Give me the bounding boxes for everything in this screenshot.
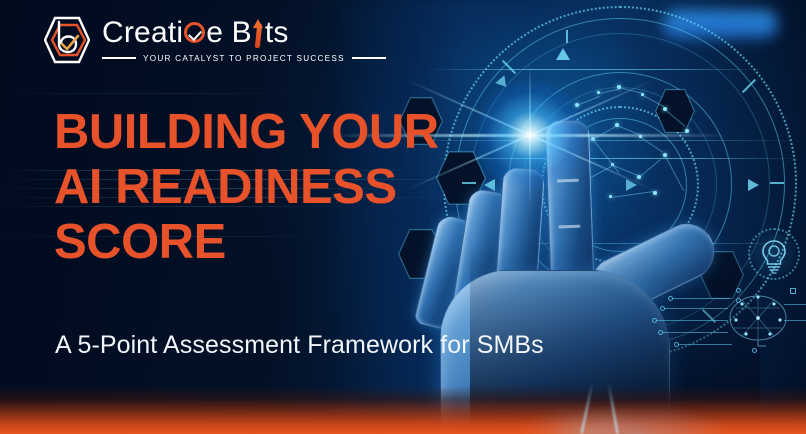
ai-readiness-banner: Creati e B ts YOUR CATALYST TO PROJECT S… [0, 0, 806, 434]
brand-logo[interactable]: Creati e B ts YOUR CATALYST TO PROJECT S… [44, 14, 386, 66]
brand-tagline: YOUR CATALYST TO PROJECT SUCCESS [102, 54, 386, 63]
tagline-rule-left [102, 57, 136, 59]
brand-name-part1: Creati [102, 18, 183, 48]
headline-line-2: AI READINESS [54, 160, 439, 215]
up-arrow-icon [252, 18, 265, 48]
brand-logo-text: Creati e B ts YOUR CATALYST TO PROJECT S… [102, 18, 386, 63]
banner-content: Creati e B ts YOUR CATALYST TO PROJECT S… [0, 0, 806, 434]
brand-name-part3: ts [265, 18, 289, 48]
headline-line-1: BUILDING YOUR [54, 105, 439, 160]
hexagon-b-check-logo-icon [44, 14, 90, 66]
headline-line-3: SCORE [54, 215, 439, 270]
page-title: BUILDING YOUR AI READINESS SCORE [54, 105, 439, 270]
brand-name-part2: e B [206, 18, 252, 48]
brand-name: Creati e B ts [102, 18, 386, 48]
page-subtitle: A 5-Point Assessment Framework for SMBs [55, 331, 544, 360]
tagline-text: YOUR CATALYST TO PROJECT SUCCESS [143, 54, 345, 63]
tagline-rule-right [352, 57, 386, 59]
check-circle-icon [184, 22, 205, 43]
